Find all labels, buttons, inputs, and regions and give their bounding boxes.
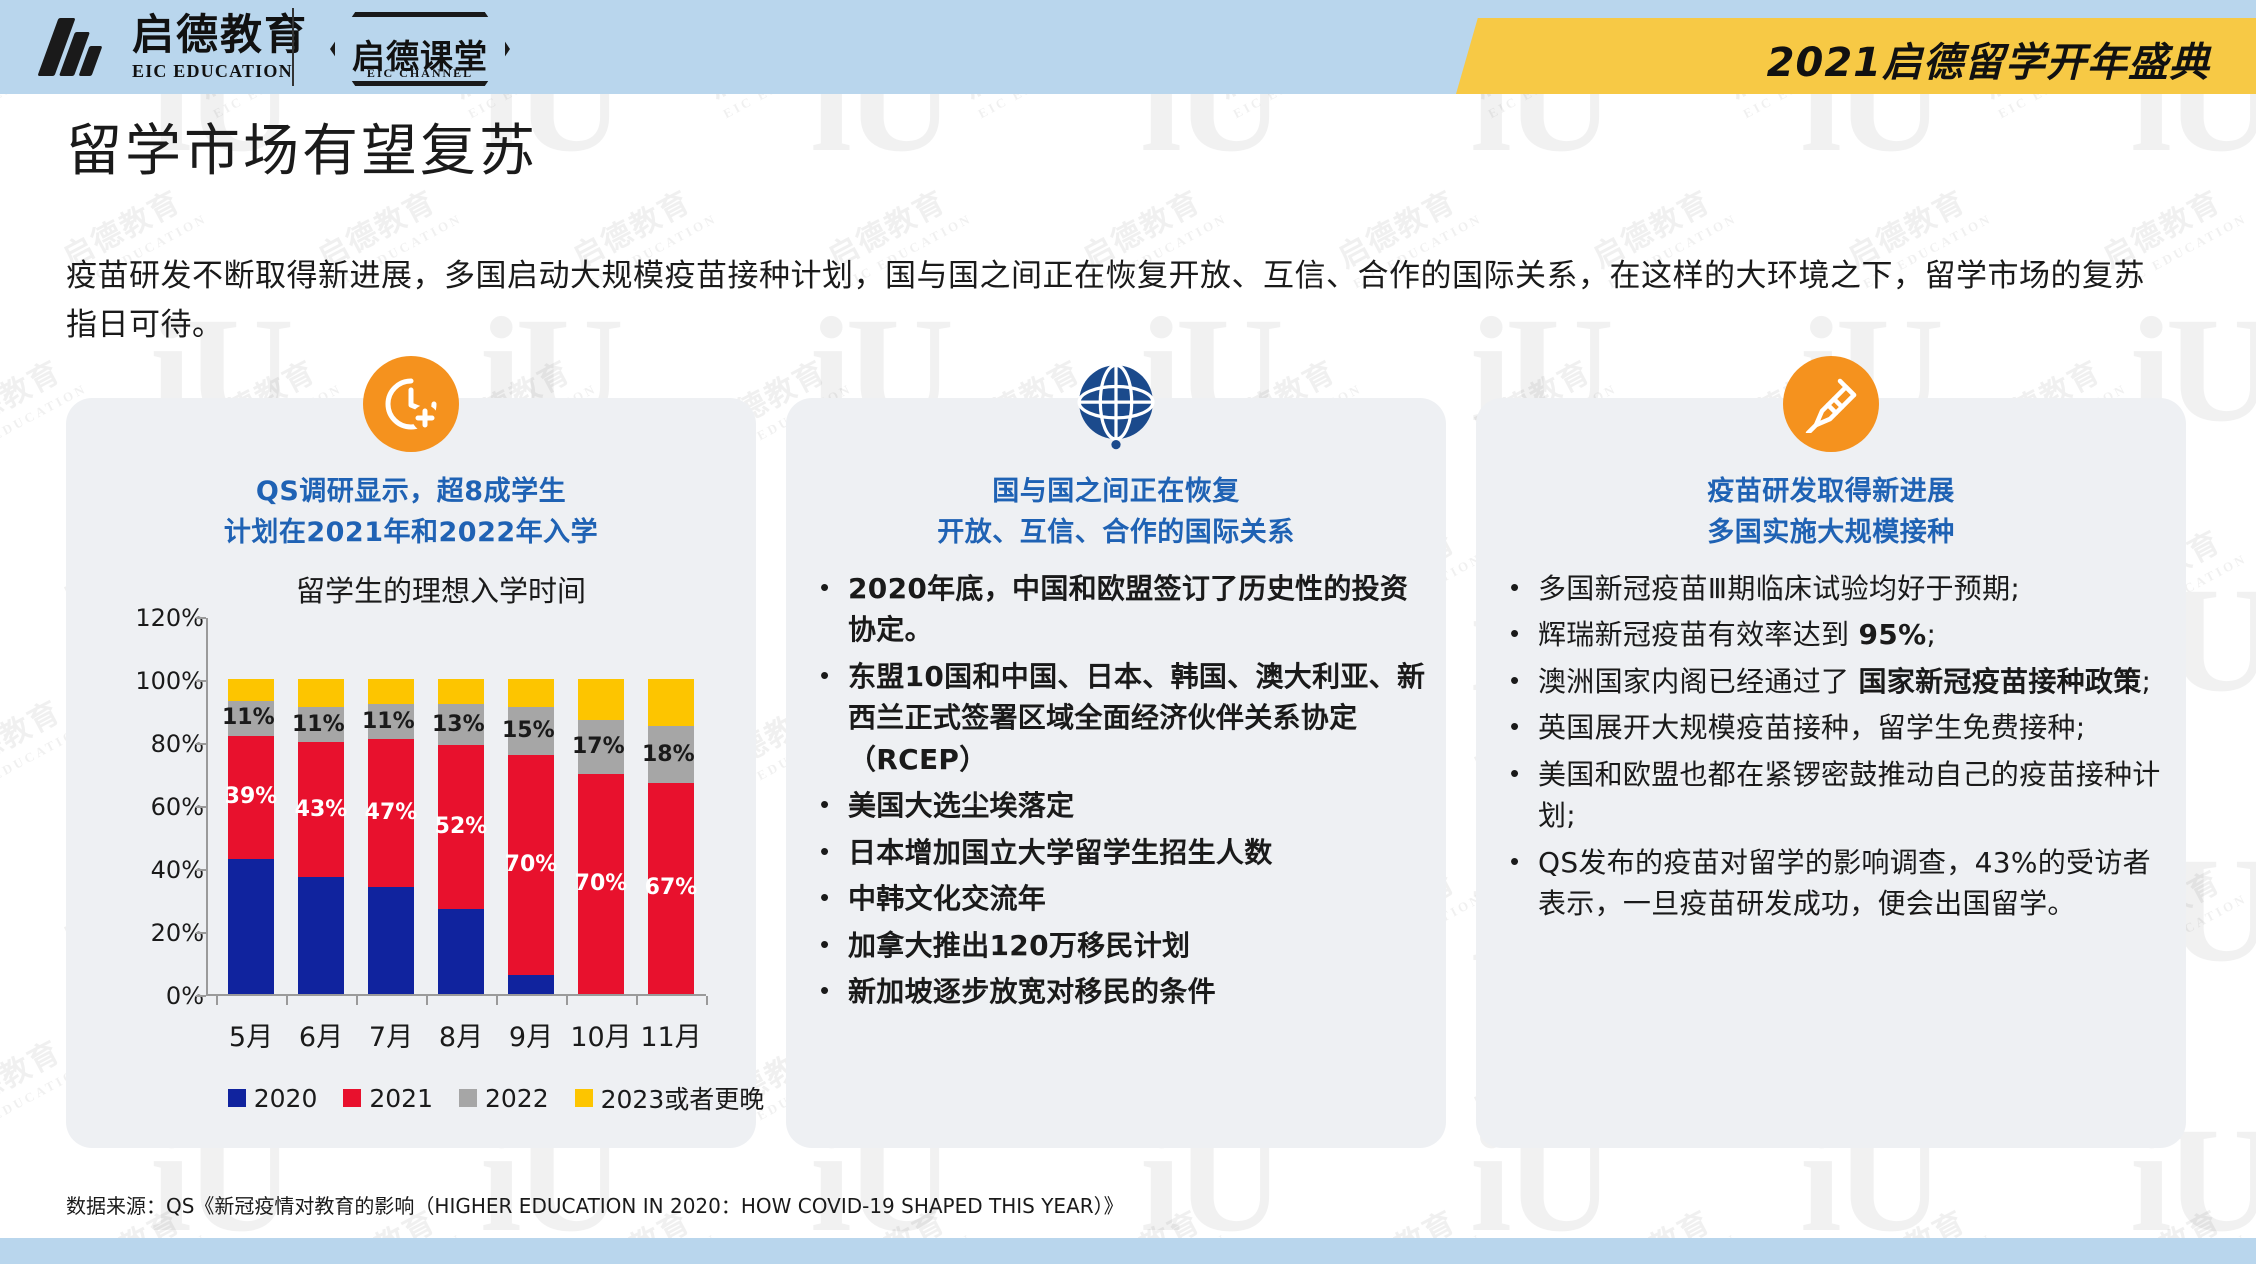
list-item: •多国新冠疫苗Ⅲ期临床试验均好于预期; (1510, 568, 2168, 609)
card-qs-survey: QS调研显示，超8成学生 计划在2021年和2022年入学 留学生的理想入学时间… (66, 398, 756, 1148)
chart-segment (368, 887, 414, 994)
list-item-text: 日本增加国立大学留学生招生人数 (848, 832, 1273, 873)
chart-x-label: 5月 (216, 1015, 286, 1054)
chart-y-tick: 80% (108, 730, 204, 758)
chart-y-tick: 40% (108, 856, 204, 884)
clock-plus-icon (363, 356, 459, 452)
bullet-dot-icon: • (1510, 614, 1520, 655)
list-item-text: 美国大选尘埃落定 (848, 785, 1074, 826)
chart-segment (298, 877, 344, 994)
chart-x-tickmark (426, 996, 428, 1005)
list-item: •2020年底，中国和欧盟签订了历史性的投资协定。 (820, 568, 1428, 651)
chart-x-axis-line (206, 994, 706, 996)
chart-y-tick: 120% (108, 604, 204, 632)
chart-segment: 70% (578, 774, 624, 995)
bullet-dot-icon: • (820, 832, 830, 873)
list-item-text: 新加坡逐步放宽对移民的条件 (848, 971, 1216, 1012)
chart-y-axis-line (206, 618, 208, 996)
page-title: 留学市场有望复苏 (66, 106, 538, 187)
list-item-text: 2020年底，中国和欧盟签订了历史性的投资协定。 (848, 568, 1428, 651)
list-item-text: 多国新冠疫苗Ⅲ期临床试验均好于预期; (1538, 568, 2020, 609)
data-source-note: 数据来源：QS《新冠疫情对教育的影响（HIGHER EDUCATION IN 2… (66, 1190, 1124, 1219)
chart-segment: 17% (578, 720, 624, 774)
chart-segment-label: 67% (645, 877, 698, 899)
channel-english-name: EIC CHANNEL (367, 66, 473, 81)
chart-segment (438, 909, 484, 994)
chart-x-tickmark (636, 996, 638, 1005)
bullet-dot-icon: • (820, 971, 830, 1012)
chart-segment-label: 15% (502, 720, 555, 742)
list-item-text: 美国和欧盟也都在紧锣密鼓推动自己的疫苗接种计划; (1538, 754, 2168, 837)
chart-bar-group: 11%47% (356, 679, 426, 994)
chart-bar-group: 17%70% (566, 679, 636, 994)
card-qs-heading-line1: QS调研显示，超8成学生 (66, 472, 756, 513)
bullet-dot-icon: • (820, 925, 830, 966)
card-relations-heading: 国与国之间正在恢复 开放、互信、合作的国际关系 (786, 472, 1446, 553)
card-relations-heading-line1: 国与国之间正在恢复 (786, 472, 1446, 513)
chart-y-tickmark (196, 617, 206, 619)
chart-segment-label: 43% (295, 799, 348, 821)
chart-bar-group: 15%70% (496, 679, 566, 994)
event-banner-title: 2021启德留学开年盛典 (1767, 30, 2210, 88)
legend-label: 2022 (485, 1084, 549, 1113)
chart-segment (508, 679, 554, 707)
logo-chinese-name: 启德教育 (132, 14, 308, 56)
list-item: •新加坡逐步放宽对移民的条件 (820, 971, 1428, 1012)
chart-x-tickmark (286, 996, 288, 1005)
intro-paragraph: 疫苗研发不断取得新进展，多国启动大规模疫苗接种计划，国与国之间正在恢复开放、互信… (66, 252, 2156, 350)
chart-segment: 11% (298, 707, 344, 742)
chart-x-tickmark (216, 996, 218, 1005)
chart-legend-item: 2023或者更晚 (575, 1080, 765, 1116)
chart-bar: 18%67% (648, 679, 694, 994)
chart-bars: 11%39%11%43%11%47%13%52%15%70%17%70%18%6… (216, 679, 706, 994)
list-item: •加拿大推出120万移民计划 (820, 925, 1428, 966)
chart-segment (508, 975, 554, 994)
chart-segment-label: 70% (505, 854, 558, 876)
chart-segment: 67% (648, 783, 694, 994)
bullet-dot-icon: • (820, 568, 830, 651)
bullet-dot-icon: • (820, 785, 830, 826)
chart-segment-label: 52% (435, 816, 488, 838)
list-item: •澳洲国家内阁已经通过了 国家新冠疫苗接种政策; (1510, 661, 2168, 702)
chart-bar: 11%39% (228, 679, 274, 994)
list-item: •东盟10国和中国、日本、韩国、澳大利亚、新西兰正式签署区域全面经济伙伴关系协定… (820, 656, 1428, 780)
list-item: •QS发布的疫苗对留学的影响调查，43%的受访者表示，一旦疫苗研发成功，便会出国… (1510, 842, 2168, 925)
chart-y-tickmark (196, 743, 206, 745)
legend-swatch (228, 1089, 246, 1107)
card-qs-heading-line2: 计划在2021年和2022年入学 (66, 513, 756, 554)
chart-legend: 2020202120222023或者更晚 (216, 1080, 776, 1116)
bullet-dot-icon: • (1510, 707, 1520, 748)
header-bar: 启德教育 EIC EDUCATION 启德课堂 EIC CHANNEL 2021… (0, 0, 2256, 94)
chart-segment-label: 17% (572, 736, 625, 758)
chart-x-label: 9月 (496, 1015, 566, 1054)
chart-segment: 47% (368, 739, 414, 887)
chart-segment (578, 679, 624, 720)
eic-education-logo: 启德教育 EIC EDUCATION (44, 14, 308, 80)
list-item-text: 加拿大推出120万移民计划 (848, 925, 1190, 966)
legend-swatch (575, 1089, 593, 1107)
list-item: •英国展开大规模疫苗接种，留学生免费接种; (1510, 707, 2168, 748)
chart-bar: 11%47% (368, 679, 414, 994)
chart-y-tick: 60% (108, 793, 204, 821)
card-relations-bullets: •2020年底，中国和欧盟签订了历史性的投资协定。•东盟10国和中国、日本、韩国… (820, 568, 1428, 1017)
list-item-text: 澳洲国家内阁已经通过了 国家新冠疫苗接种政策; (1538, 661, 2151, 702)
syringe-icon (1783, 356, 1879, 452)
card-row: QS调研显示，超8成学生 计划在2021年和2022年入学 留学生的理想入学时间… (66, 398, 2186, 1148)
list-item: •辉瑞新冠疫苗有效率达到 95%; (1510, 614, 2168, 655)
chart-segment (228, 679, 274, 701)
card-vaccine-heading: 疫苗研发取得新进展 多国实施大规模接种 (1476, 472, 2186, 553)
chart-bar: 11%43% (298, 679, 344, 994)
logo-english-name: EIC EDUCATION (132, 62, 308, 80)
chart-y-tick: 20% (108, 919, 204, 947)
legend-swatch (343, 1089, 361, 1107)
chart-segment: 43% (298, 742, 344, 877)
chart-x-label: 6月 (286, 1015, 356, 1054)
chart-x-label: 11月 (636, 1015, 706, 1054)
chart-legend-item: 2020 (228, 1080, 318, 1116)
list-item: •美国和欧盟也都在紧锣密鼓推动自己的疫苗接种计划; (1510, 754, 2168, 837)
list-item-text: 辉瑞新冠疫苗有效率达到 95%; (1538, 614, 1936, 655)
list-item: •美国大选尘埃落定 (820, 785, 1428, 826)
chart-x-label: 7月 (356, 1015, 426, 1054)
chart-x-tickmark (566, 996, 568, 1005)
legend-swatch (459, 1089, 477, 1107)
chart-y-tickmark (196, 806, 206, 808)
chart-x-label: 10月 (566, 1015, 636, 1054)
bullet-dot-icon: • (1510, 842, 1520, 925)
chart-segment-label: 11% (362, 711, 415, 733)
list-item-text: 英国展开大规模疫苗接种，留学生免费接种; (1538, 707, 2085, 748)
card-qs-heading: QS调研显示，超8成学生 计划在2021年和2022年入学 (66, 472, 756, 553)
chart-bar: 15%70% (508, 679, 554, 994)
chart-bar: 17%70% (578, 679, 624, 994)
legend-label: 2023或者更晚 (601, 1080, 765, 1116)
chart-y-tickmark (196, 680, 206, 682)
chart-x-tickmark (356, 996, 358, 1005)
chart-plot-area: 0%20%40%60%80%100%120% 11%39%11%43%11%47… (216, 618, 706, 996)
header-divider (292, 8, 294, 86)
chart-y-tick: 0% (108, 982, 204, 1010)
list-item: •日本增加国立大学留学生招生人数 (820, 832, 1428, 873)
list-item-text: 东盟10国和中国、日本、韩国、澳大利亚、新西兰正式签署区域全面经济伙伴关系协定（… (848, 656, 1428, 780)
bullet-dot-icon: • (1510, 568, 1520, 609)
card-international-relations: 国与国之间正在恢复 开放、互信、合作的国际关系 •2020年底，中国和欧盟签订了… (786, 398, 1446, 1148)
card-relations-heading-line2: 开放、互信、合作的国际关系 (786, 513, 1446, 554)
chart-y-tickmark (196, 932, 206, 934)
chart-legend-item: 2022 (459, 1080, 549, 1116)
chart-x-tickmark (706, 996, 708, 1005)
chart-y-axis: 0%20%40%60%80%100%120% (108, 618, 204, 996)
chart-bar-group: 18%67% (636, 679, 706, 994)
chart-segment-label: 47% (365, 802, 418, 824)
bullet-dot-icon: • (820, 878, 830, 919)
legend-label: 2020 (254, 1084, 318, 1113)
card-vaccine-bullets: •多国新冠疫苗Ⅲ期临床试验均好于预期;•辉瑞新冠疫苗有效率达到 95%;•澳洲国… (1510, 568, 2168, 930)
stacked-bar-chart: 留学生的理想入学时间 0%20%40%60%80%100%120% 11%39%… (66, 568, 756, 1148)
chart-segment-label: 11% (222, 707, 275, 729)
list-item-text: QS发布的疫苗对留学的影响调查，43%的受访者表示，一旦疫苗研发成功，便会出国留… (1538, 842, 2168, 925)
bullet-dot-icon: • (820, 656, 830, 780)
chart-x-labels: 5月6月7月8月9月10月11月 (216, 1015, 706, 1054)
chart-segment-label: 39% (225, 786, 278, 808)
chart-bar-group: 13%52% (426, 679, 496, 994)
chart-segment-label: 18% (642, 744, 695, 766)
card-vaccine-progress: 疫苗研发取得新进展 多国实施大规模接种 •多国新冠疫苗Ⅲ期临床试验均好于预期;•… (1476, 398, 2186, 1148)
chart-segment (368, 679, 414, 704)
chart-segment: 70% (508, 755, 554, 976)
chart-x-tickmark (496, 996, 498, 1005)
chart-segment-label: 70% (575, 873, 628, 895)
card-vaccine-heading-line1: 疫苗研发取得新进展 (1476, 472, 2186, 513)
bullet-dot-icon: • (1510, 754, 1520, 837)
chart-segment: 13% (438, 704, 484, 745)
chart-bar-group: 11%39% (216, 679, 286, 994)
chart-y-tick: 100% (108, 667, 204, 695)
chart-segment: 52% (438, 745, 484, 909)
chart-segment-label: 11% (292, 714, 345, 736)
chart-segment (298, 679, 344, 707)
chart-segment (438, 679, 484, 704)
legend-label: 2021 (369, 1084, 433, 1113)
globe-icon (1068, 356, 1164, 452)
chart-segment (648, 679, 694, 726)
eic-brand-mark-icon (44, 16, 106, 78)
list-item-text: 中韩文化交流年 (848, 878, 1046, 919)
list-item: •中韩文化交流年 (820, 878, 1428, 919)
footer-bar (0, 1238, 2256, 1264)
chart-y-tickmark (196, 995, 206, 997)
chart-segment: 18% (648, 726, 694, 783)
chart-y-tickmark (196, 869, 206, 871)
chart-bar-group: 11%43% (286, 679, 356, 994)
chart-bar: 13%52% (438, 679, 484, 994)
eic-channel-logo: 启德课堂 EIC CHANNEL (330, 12, 510, 86)
card-vaccine-heading-line2: 多国实施大规模接种 (1476, 513, 2186, 554)
chart-segment: 39% (228, 736, 274, 859)
chart-segment-label: 13% (432, 714, 485, 736)
chart-x-label: 8月 (426, 1015, 496, 1054)
chart-legend-item: 2021 (343, 1080, 433, 1116)
chart-segment (228, 859, 274, 994)
chart-segment: 15% (508, 707, 554, 754)
bullet-dot-icon: • (1510, 661, 1520, 702)
chart-segment: 11% (228, 701, 274, 736)
chart-segment: 11% (368, 704, 414, 739)
